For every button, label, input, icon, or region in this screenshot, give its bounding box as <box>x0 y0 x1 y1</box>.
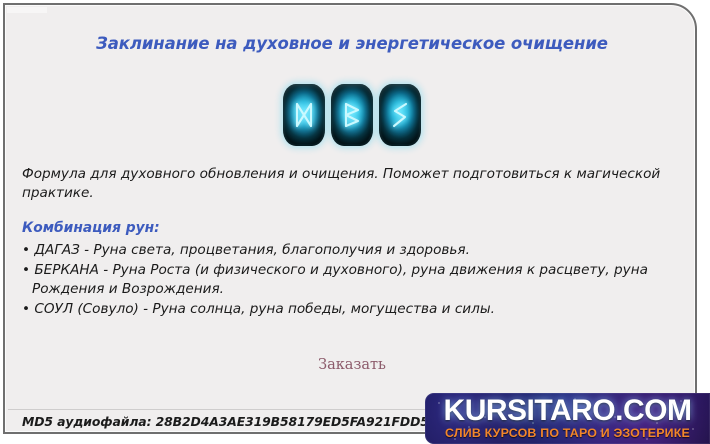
berkana-rune-icon <box>331 84 373 146</box>
watermark-tagline: СЛИВ КУРСОВ ПО ТАРО И ЭЗОТЕРИКЕ <box>425 426 710 440</box>
intro-paragraph: Формула для духовного обновления и очище… <box>22 165 688 203</box>
sowilo-rune-icon <box>379 84 421 146</box>
md5-hash-text: MD5 аудиофайла: 28B2D4A3AE319B58179ED5FA… <box>22 414 437 429</box>
rune-row <box>5 83 699 147</box>
page-title: Заклинание на духовное и энергетическое … <box>5 34 699 53</box>
list-item: СОУЛ (Совуло) - Руна солнца, руна победы… <box>22 300 694 320</box>
list-item: БЕРКАНА - Руна Роста (и физического и ду… <box>22 261 694 300</box>
kursitaro-watermark: KURSITARO.COM СЛИВ КУРСОВ ПО ТАРО И ЭЗОТ… <box>425 393 710 444</box>
watermark-site-name: KURSITARO.COM <box>425 394 710 428</box>
dagaz-rune-icon <box>283 84 325 146</box>
sowilo-rune-stone <box>379 84 421 146</box>
dagaz-rune-stone <box>283 84 325 146</box>
order-button[interactable]: Заказать <box>5 357 699 373</box>
berkana-rune-stone <box>331 84 373 146</box>
rune-description-list: ДАГАЗ - Руна света, процветания, благопо… <box>22 241 694 319</box>
combination-heading: Комбинация рун: <box>22 220 160 236</box>
spell-card: Заклинание на духовное и энергетическое … <box>3 3 697 434</box>
list-item: ДАГАЗ - Руна света, процветания, благопо… <box>22 241 694 261</box>
